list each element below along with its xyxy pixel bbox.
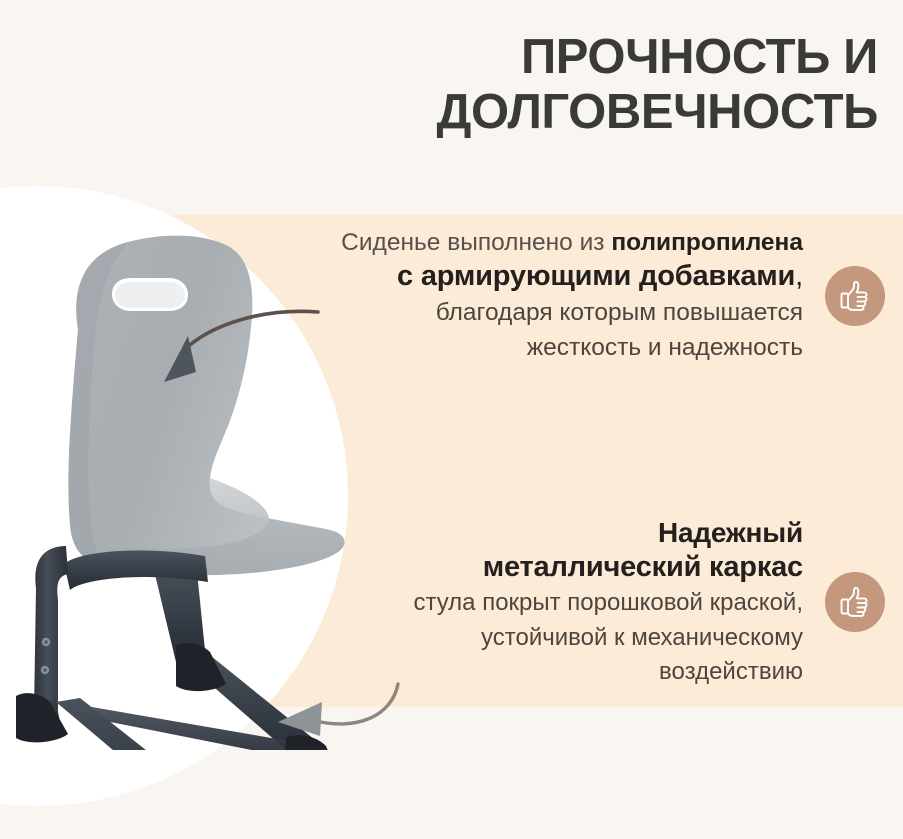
feature-1-rest-line-2: жесткость и надежность (140, 333, 803, 364)
feature-2-badge (825, 572, 885, 632)
feature-block-seat-material: Сиденье выполнено из полипропилена с арм… (140, 228, 885, 363)
feature-2-bold-2: металлический каркас (300, 550, 803, 585)
feature-block-metal-frame: Надежный металлический каркас стула покр… (300, 516, 885, 687)
thumbs-up-icon (838, 279, 872, 313)
page-title: ПРОЧНОСТЬ И ДОЛГОВЕЧНОСТЬ (238, 30, 878, 141)
feature-1-text: Сиденье выполнено из полипропилена с арм… (140, 228, 803, 363)
feature-1-bold-1: полипропилена (611, 229, 803, 256)
feature-2-rest-line-3: воздействию (300, 657, 803, 687)
thumbs-up-icon (838, 585, 872, 619)
feature-2-bold-1: Надежный (300, 516, 803, 550)
chair-foot-cap (16, 693, 68, 742)
feature-1-lead: Сиденье выполнено из (341, 229, 611, 256)
page-title-line-2: ДОЛГОВЕЧНОСТЬ (238, 85, 878, 140)
page-title-line-1: ПРОЧНОСТЬ И (238, 30, 878, 85)
chair-metal-frame (16, 546, 336, 750)
feature-2-rest-line-2: устойчивой к механическому (300, 623, 803, 653)
feature-2-text: Надежный металлический каркас стула покр… (300, 516, 803, 687)
promo-banner: ПРОЧНОСТЬ И ДОЛГОВЕЧНОСТЬ (0, 0, 903, 839)
feature-1-badge (825, 266, 885, 326)
feature-1-bold-2: с армирующими добавками, (140, 259, 803, 294)
chair-foot-cap (284, 735, 336, 750)
feature-2-rest-line-1: стула покрыт порошковой краской, (300, 588, 803, 618)
feature-1-rest-line-1: благодаря которым повышается (140, 298, 803, 329)
